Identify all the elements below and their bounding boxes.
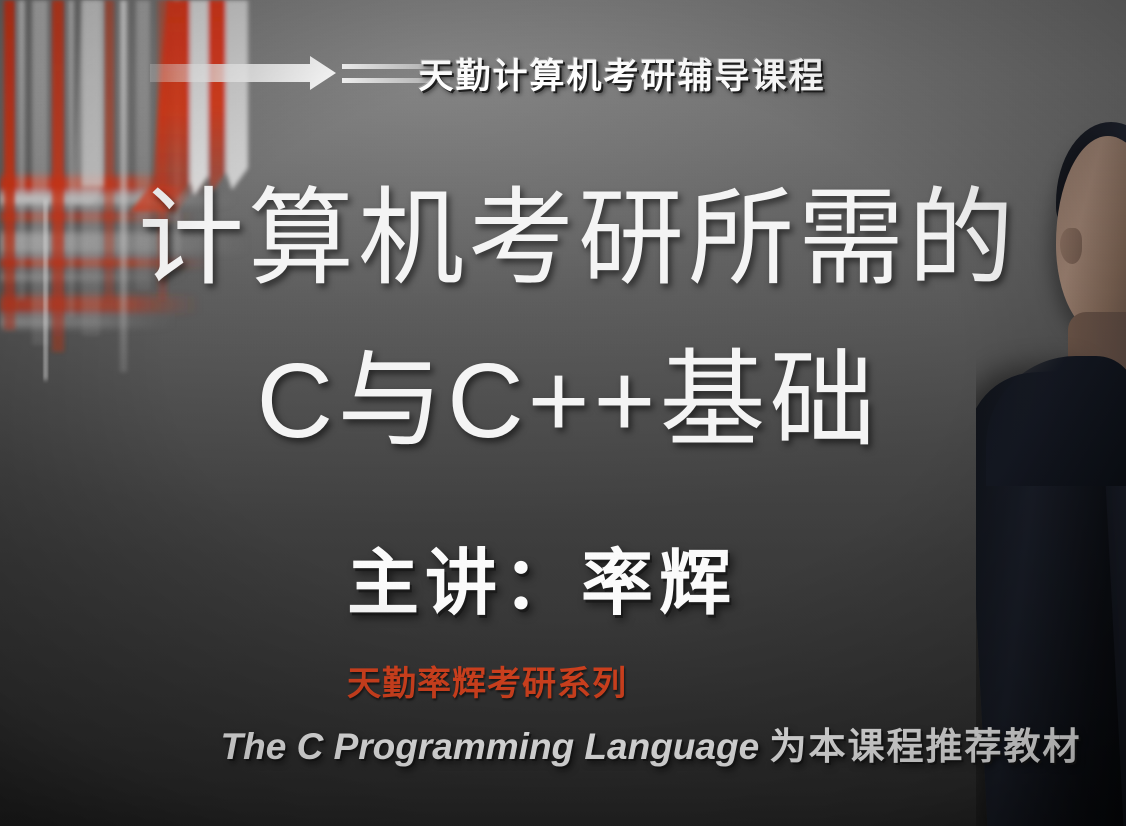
slide-title-line-1: 计算机考研所需的 bbox=[0, 186, 1126, 292]
course-kicker-heading: 天勤计算机考研辅导课程 bbox=[0, 48, 1126, 99]
series-label: 天勤率辉考研系列 bbox=[0, 656, 1126, 705]
presenter-name-label: 主讲：率辉 bbox=[0, 524, 1126, 629]
slide-title-line-2: C与C++基础 bbox=[0, 348, 1126, 454]
textbook-suffix: 为本课程推荐教材 bbox=[769, 726, 1081, 767]
recommended-textbook-note: The C Programming Language 为本课程推荐教材 bbox=[0, 716, 1126, 770]
presentation-slide: 天勤计算机考研辅导课程 计算机考研所需的 C与C++基础 主讲：率辉 天勤率辉考… bbox=[0, 0, 1126, 826]
textbook-title: The C Programming Language bbox=[221, 726, 770, 767]
